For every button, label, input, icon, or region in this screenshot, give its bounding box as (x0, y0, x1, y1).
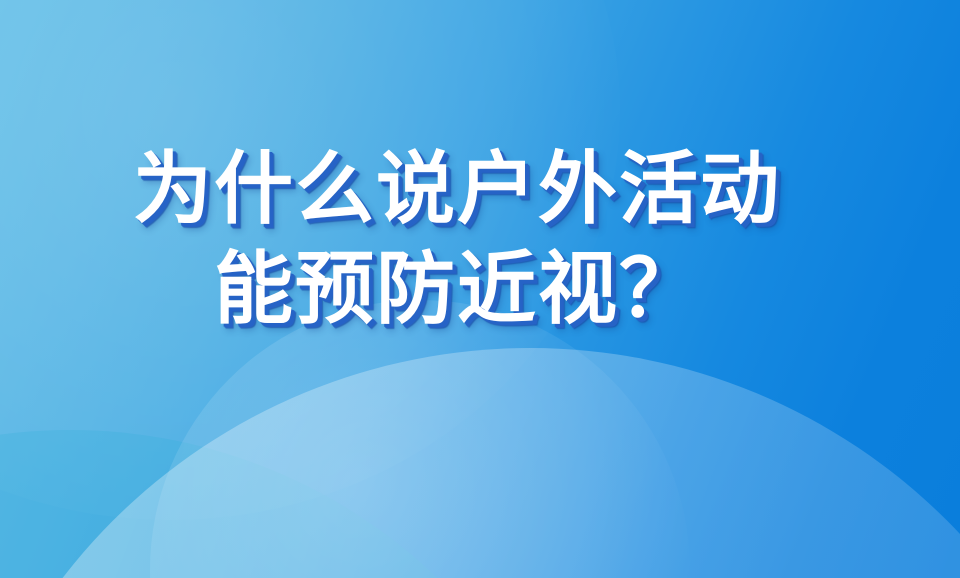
background-circle-main (0, 348, 960, 578)
background-circle-left (0, 430, 600, 578)
headline-line-2: 能预防近视？ (0, 239, 914, 339)
poster-banner: 为什么说户外活动 能预防近视？ (0, 0, 960, 578)
background-lens-highlight (150, 300, 690, 578)
headline-line-1: 为什么说户外活动 (0, 139, 914, 239)
headline-block: 为什么说户外活动 能预防近视？ (0, 139, 960, 339)
